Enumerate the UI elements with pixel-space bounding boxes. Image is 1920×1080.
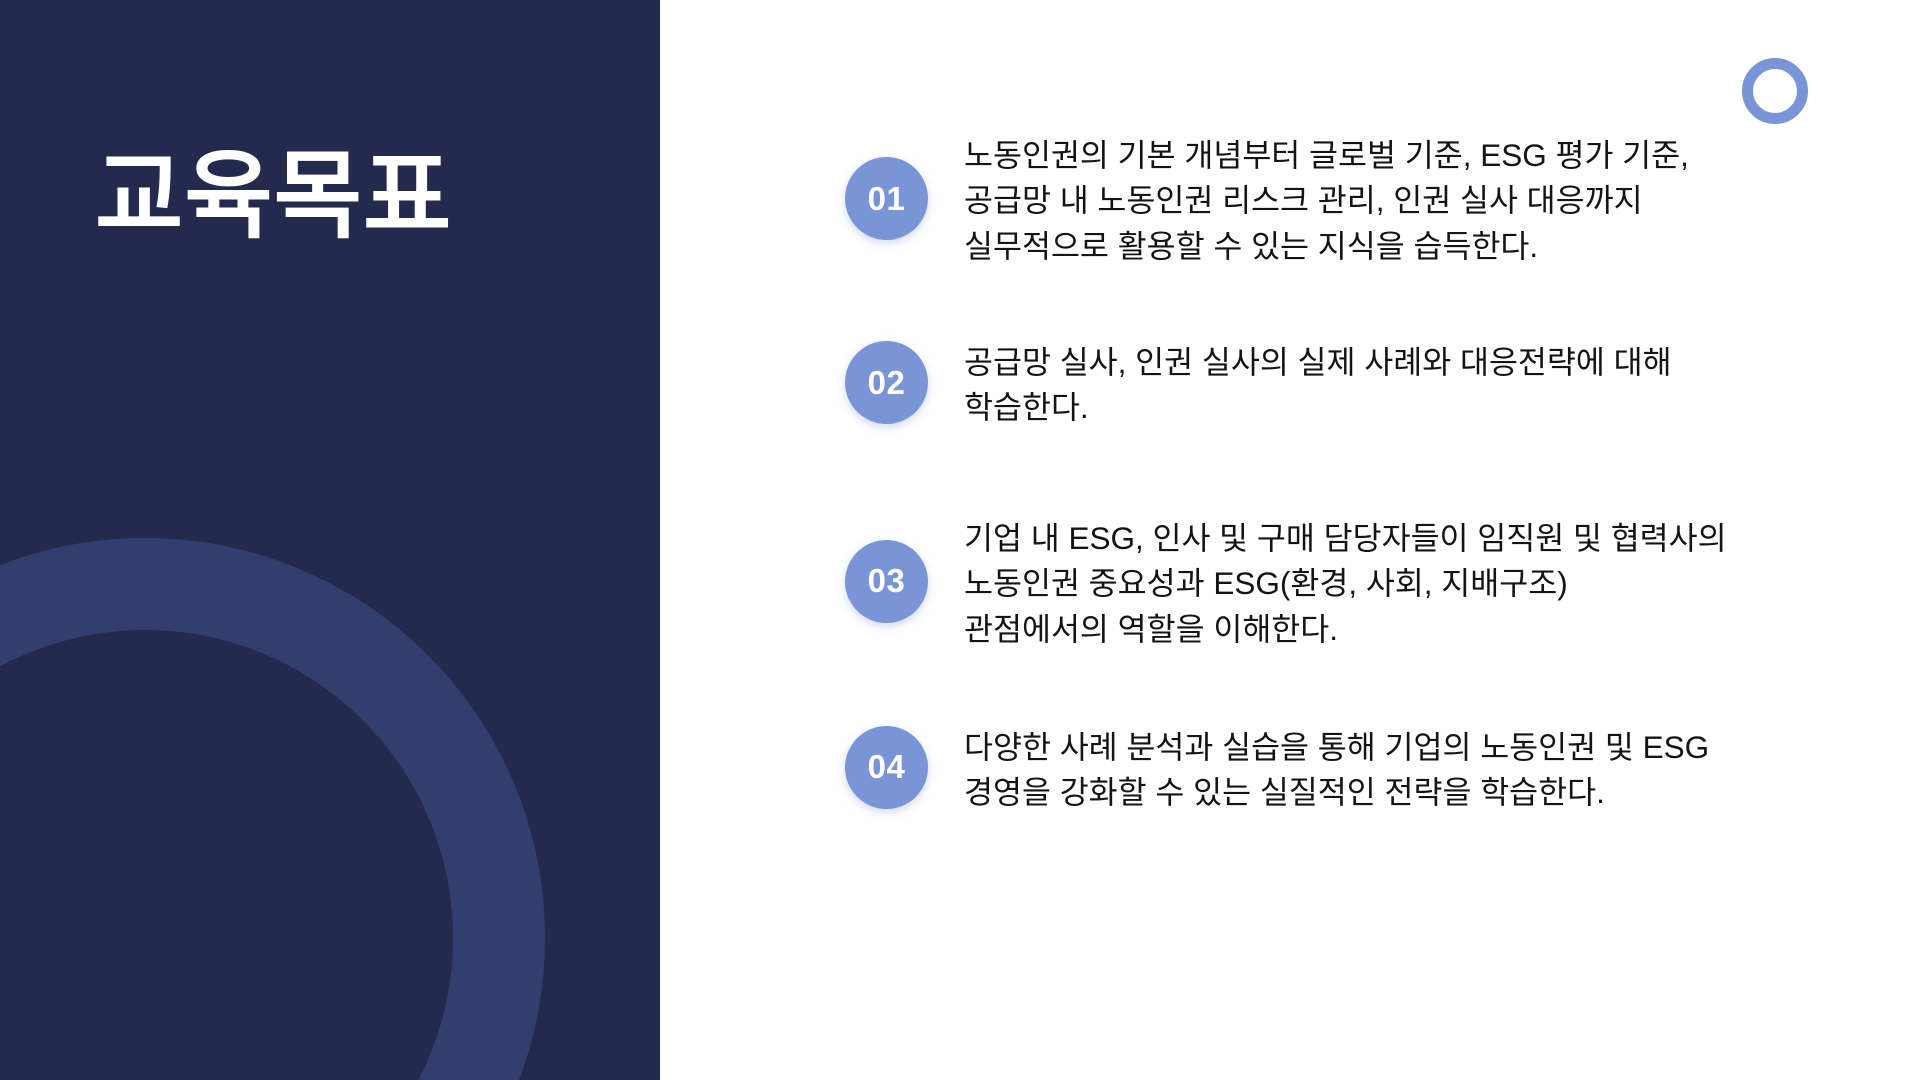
goal-number-badge: 01 <box>845 157 928 240</box>
list-item: 01 노동인권의 기본 개념부터 글로벌 기준, ESG 평가 기준, 공급망 … <box>845 132 1865 269</box>
goal-list: 01 노동인권의 기본 개념부터 글로벌 기준, ESG 평가 기준, 공급망 … <box>845 132 1865 816</box>
circle-outline-icon <box>1742 58 1808 124</box>
goal-description: 노동인권의 기본 개념부터 글로벌 기준, ESG 평가 기준, 공급망 내 노… <box>964 132 1689 269</box>
title-panel: 교육목표 <box>0 0 660 1080</box>
goal-number-badge: 03 <box>845 540 928 623</box>
large-ring-arc-icon <box>0 538 545 1080</box>
list-item: 02 공급망 실사, 인권 실사의 실제 사례와 대응전략에 대해 학습한다. <box>845 339 1865 431</box>
goal-number-badge: 02 <box>845 341 928 424</box>
page-title: 교육목표 <box>95 143 452 251</box>
list-item: 04 다양한 사례 분석과 실습을 통해 기업의 노동인권 및 ESG 경영을 … <box>845 724 1865 816</box>
goal-description: 기업 내 ESG, 인사 및 구매 담당자들이 임직원 및 협력사의 노동인권 … <box>964 515 1727 652</box>
list-item: 03 기업 내 ESG, 인사 및 구매 담당자들이 임직원 및 협력사의 노동… <box>845 515 1865 652</box>
goal-number-badge: 04 <box>845 726 928 809</box>
goal-description: 다양한 사례 분석과 실습을 통해 기업의 노동인권 및 ESG 경영을 강화할… <box>964 724 1709 816</box>
slide-root: 교육목표 01 노동인권의 기본 개념부터 글로벌 기준, ESG 평가 기준,… <box>0 0 1920 1080</box>
goal-description: 공급망 실사, 인권 실사의 실제 사례와 대응전략에 대해 학습한다. <box>964 339 1672 431</box>
